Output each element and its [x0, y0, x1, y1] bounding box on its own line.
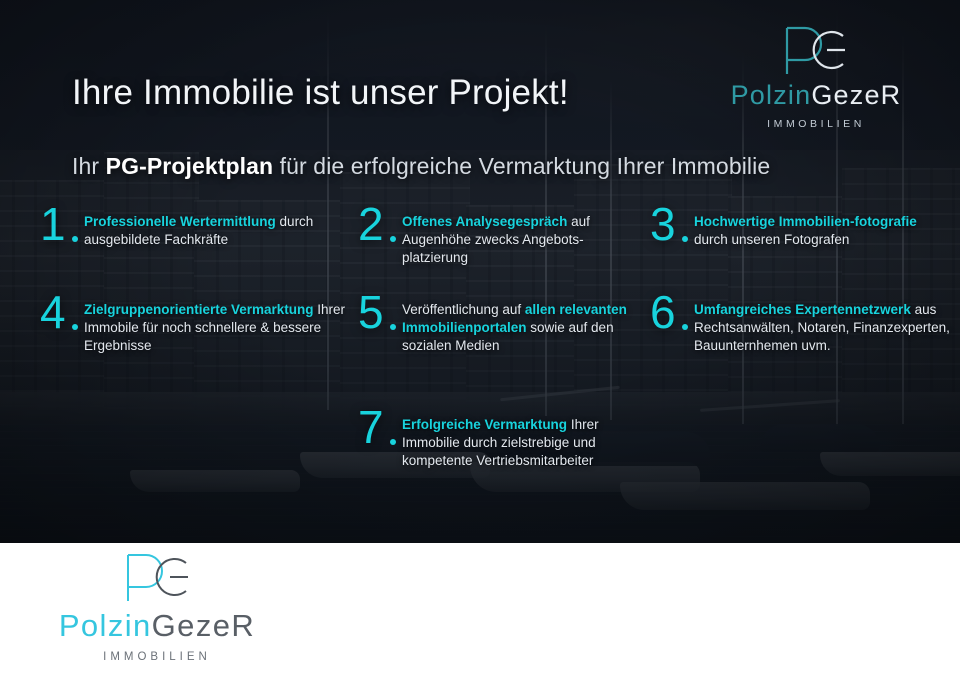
- step-number-dot: [72, 236, 78, 242]
- step-item: 1 Professionelle Wertermittlung durch au…: [40, 202, 340, 249]
- step-number-dot: [390, 439, 396, 445]
- step-number-value: 5: [358, 286, 384, 338]
- step-number-dot: [682, 324, 688, 330]
- brand-name-part2: GezeR: [811, 80, 901, 110]
- brand-wordmark: PolzinGezeR: [706, 82, 926, 109]
- step-number: 3: [650, 202, 690, 246]
- step-number-value: 6: [650, 286, 676, 338]
- brand-subtitle: IMMOBILIEN: [706, 118, 926, 130]
- page-subtitle: Ihr PG-Projektplan für die erfolgreiche …: [72, 153, 770, 180]
- step-text-bold: Professionelle Wertermittlung: [84, 214, 276, 229]
- step-text-bold: Zielgruppenorientierte Vermarktung: [84, 302, 314, 317]
- page-title: Ihre Immobilie ist unser Projekt!: [72, 73, 569, 113]
- step-text-rest: durch unseren Fotografen: [694, 232, 849, 247]
- brand-logo-footer: PolzinGezeR IMMOBILIEN: [22, 549, 292, 663]
- step-text: Offenes Analysegespräch auf Augenhöhe zw…: [402, 202, 648, 267]
- step-number-value: 2: [358, 198, 384, 250]
- step-text-bold: Hochwertige Immobilien-fotografie: [694, 214, 917, 229]
- step-item: 3 Hochwertige Immobilien-fotografie durc…: [650, 202, 940, 249]
- brand-name-part2: GezeR: [152, 608, 255, 643]
- brand-name-part1: Polzin: [59, 608, 152, 643]
- step-text: Professionelle Wertermittlung durch ausg…: [84, 202, 340, 249]
- step-text: Veröffentlichung auf allen relevanten Im…: [402, 290, 658, 355]
- brand-logo-header: PolzinGezeR IMMOBILIEN: [706, 22, 926, 130]
- step-number-value: 3: [650, 198, 676, 250]
- subtitle-post: für die erfolgreiche Vermarktung Ihrer I…: [273, 153, 770, 179]
- step-text-pre: Veröffentlichung auf: [402, 302, 525, 317]
- brand-subtitle: IMMOBILIEN: [22, 651, 292, 663]
- step-number-dot: [390, 236, 396, 242]
- step-item: 7 Erfolgreiche Vermarktung Ihrer Immobil…: [358, 405, 658, 470]
- step-number-dot: [72, 324, 78, 330]
- step-number: 6: [650, 290, 690, 334]
- subtitle-pre: Ihr: [72, 153, 106, 179]
- step-item: 4 Zielgruppenorientierte Vermarktung Ihr…: [40, 290, 350, 355]
- step-text: Umfangreiches Expertennetzwerk aus Recht…: [694, 290, 950, 355]
- step-number: 2: [358, 202, 398, 246]
- step-text: Hochwertige Immobilien-fotografie durch …: [694, 202, 940, 249]
- step-number-value: 4: [40, 286, 66, 338]
- poster-root: Ihre Immobilie ist unser Projekt! Ihr PG…: [0, 0, 960, 676]
- step-number: 7: [358, 405, 398, 449]
- pg-monogram-icon: [706, 22, 926, 80]
- brand-name-part1: Polzin: [731, 80, 812, 110]
- step-number: 1: [40, 202, 80, 246]
- step-number-value: 7: [358, 401, 384, 453]
- step-number-dot: [682, 236, 688, 242]
- step-text-bold: Erfolgreiche Vermarktung: [402, 417, 567, 432]
- step-item: 2 Offenes Analysegespräch auf Augenhöhe …: [358, 202, 648, 267]
- step-item: 5 Veröffentlichung auf allen relevanten …: [358, 290, 658, 355]
- pg-monogram-icon: [22, 549, 292, 607]
- brand-wordmark: PolzinGezeR: [22, 610, 292, 641]
- step-text-bold: Umfangreiches Expertennetzwerk: [694, 302, 911, 317]
- footer-bar: PolzinGezeR IMMOBILIEN Erfolgreich aus T…: [0, 543, 960, 676]
- step-text: Erfolgreiche Vermarktung Ihrer Immobilie…: [402, 405, 658, 470]
- step-item: 6 Umfangreiches Expertennetzwerk aus Rec…: [650, 290, 950, 355]
- step-number: 5: [358, 290, 398, 334]
- hero-content: Ihre Immobilie ist unser Projekt! Ihr PG…: [0, 0, 960, 543]
- step-number: 4: [40, 290, 80, 334]
- subtitle-highlight: PG-Projektplan: [106, 153, 274, 179]
- step-text-bold: Offenes Analysegespräch: [402, 214, 567, 229]
- step-text: Zielgruppenorientierte Vermarktung Ihrer…: [84, 290, 350, 355]
- step-number-dot: [390, 324, 396, 330]
- step-number-value: 1: [40, 198, 66, 250]
